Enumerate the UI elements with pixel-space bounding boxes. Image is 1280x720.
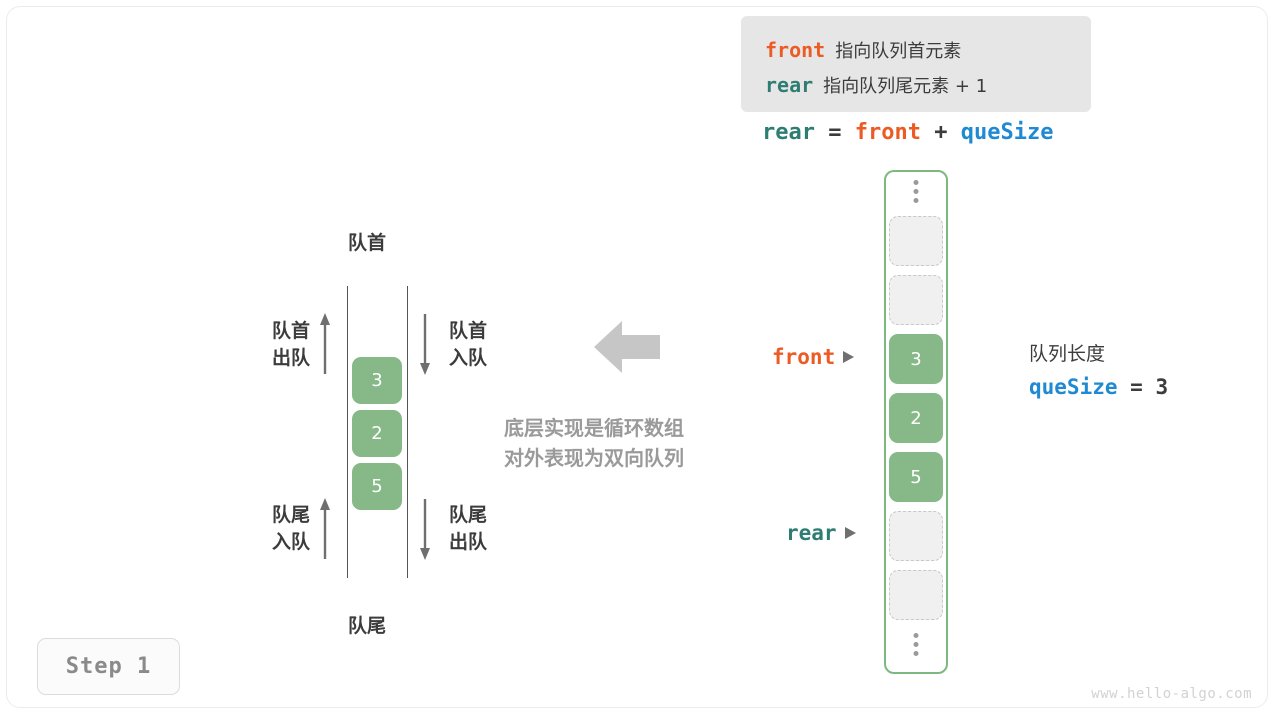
legend-key-front: front	[765, 38, 825, 62]
array-cell	[889, 275, 943, 325]
deque-cell: 2	[352, 410, 402, 457]
legend-desc-front: 指向队列首元素	[835, 41, 961, 62]
watermark: www.hello-algo.com	[1091, 686, 1252, 702]
formula-plus: +	[934, 120, 947, 145]
legend-line-front: front指向队列首元素	[765, 37, 961, 63]
queue-size-expression: queSize = 3	[1029, 375, 1168, 399]
queue-size-equals: =	[1130, 375, 1143, 399]
op-label-tail-dequeue: 队尾 出队	[449, 502, 487, 556]
arrow-down-icon	[418, 312, 432, 376]
deque-cell: 5	[352, 463, 402, 510]
pointer-rear: rear	[786, 521, 856, 545]
op-head-dequeue-line2: 出队	[250, 345, 310, 372]
array-cell	[889, 511, 943, 561]
legend-key-rear: rear	[765, 73, 813, 97]
arrow-up-icon	[318, 497, 332, 561]
formula-front: front	[855, 120, 921, 145]
implementation-note: 底层实现是循环数组 对外表现为双向队列	[504, 413, 684, 473]
pointer-front-label: front	[772, 345, 835, 369]
implementation-note-line1: 底层实现是循环数组	[504, 413, 684, 443]
diagram-canvas: front指向队列首元素 rear指向队列尾元素 + 1 rear = fron…	[0, 0, 1280, 720]
pointer-rear-arrow-icon	[845, 527, 856, 539]
queue-size-name: queSize	[1029, 375, 1118, 399]
array-cell: 5	[889, 452, 943, 502]
formula-equals: =	[828, 120, 841, 145]
formula-rear: rear	[762, 120, 815, 145]
pointer-rear-label: rear	[786, 521, 837, 545]
arrow-up-icon	[318, 312, 332, 376]
implementation-note-line2: 对外表现为双向队列	[504, 443, 684, 473]
op-tail-enqueue-line2: 入队	[250, 529, 310, 556]
deque-head-label: 队首	[348, 228, 386, 255]
legend-desc-rear: 指向队列尾元素 + 1	[823, 76, 987, 97]
queue-size-title: 队列长度	[1029, 339, 1168, 366]
legend-line-rear: rear指向队列尾元素 + 1	[765, 72, 987, 98]
op-tail-dequeue-line1: 队尾	[449, 502, 487, 529]
deque-tail-label: 队尾	[348, 611, 386, 638]
formula-quesize: queSize	[961, 120, 1054, 145]
op-head-enqueue-line1: 队首	[449, 318, 487, 345]
deque-rail-right	[407, 286, 408, 578]
op-head-enqueue-line2: 入队	[449, 345, 487, 372]
array-ellipsis-bottom-icon	[914, 633, 919, 656]
op-tail-enqueue-line1: 队尾	[250, 502, 310, 529]
deque-cell: 3	[352, 357, 402, 404]
pointer-front: front	[772, 345, 854, 369]
array-ellipsis-top-icon	[914, 180, 919, 203]
array-cell	[889, 570, 943, 620]
op-label-tail-enqueue: 队尾 入队	[250, 502, 310, 556]
array-cell	[889, 216, 943, 266]
queue-size-value: 3	[1155, 375, 1168, 399]
formula-rear-equals: rear = front + queSize	[762, 120, 1053, 145]
deque-stack: 3 2 5	[352, 357, 402, 516]
array-cell: 2	[889, 393, 943, 443]
deque-rail-left	[347, 286, 348, 578]
pointer-front-arrow-icon	[843, 351, 854, 363]
step-badge: Step 1	[37, 638, 180, 695]
op-head-dequeue-line1: 队首	[250, 318, 310, 345]
arrow-left-icon	[594, 320, 660, 374]
op-tail-dequeue-line2: 出队	[449, 529, 487, 556]
op-label-head-dequeue: 队首 出队	[250, 318, 310, 372]
arrow-down-icon	[418, 497, 432, 561]
op-label-head-enqueue: 队首 入队	[449, 318, 487, 372]
queue-size-note: 队列长度 queSize = 3	[1029, 339, 1168, 399]
legend-box: front指向队列首元素 rear指向队列尾元素 + 1	[741, 16, 1091, 112]
array-cell: 3	[889, 334, 943, 384]
